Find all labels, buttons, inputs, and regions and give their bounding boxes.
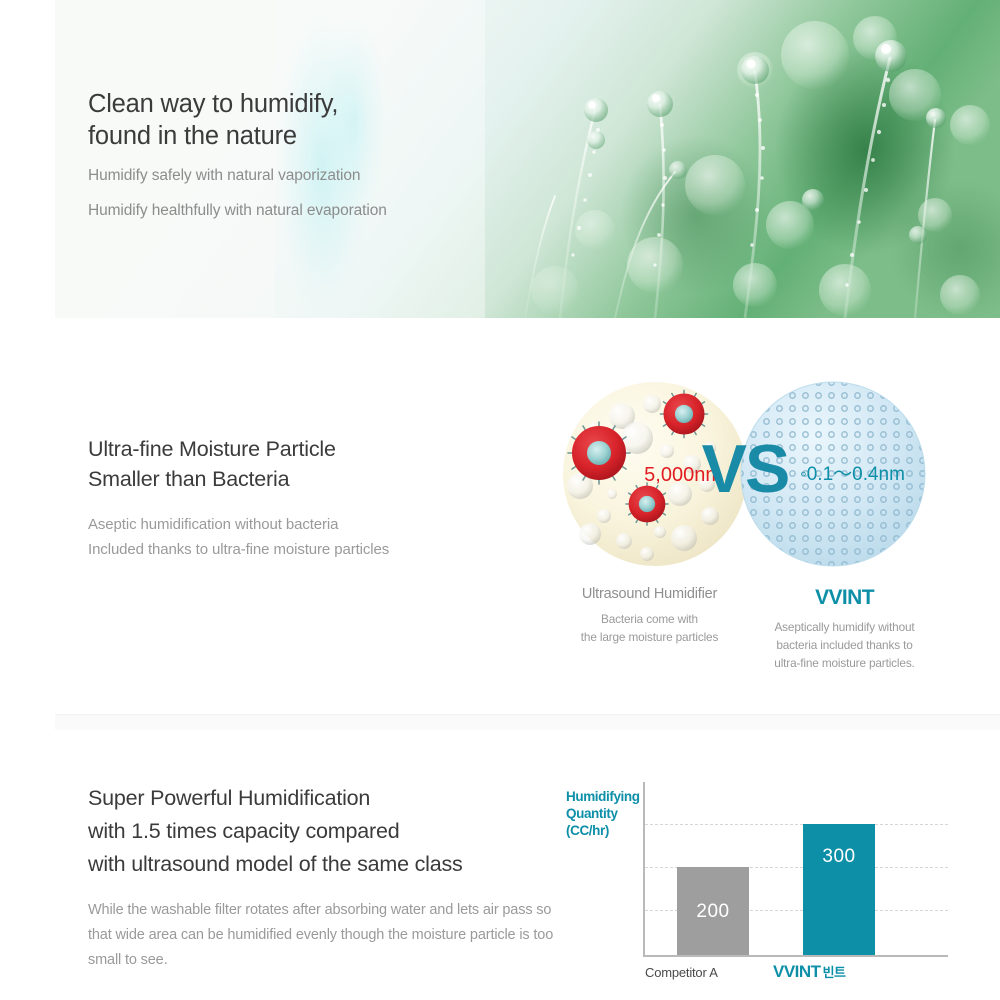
y-axis-label-line-1: Humidifying — [566, 788, 640, 805]
x-label-vvint: VVINT빈트 — [773, 962, 845, 982]
comparison-captions: Ultrasound Humidifier Bacteria come with… — [552, 586, 942, 672]
x-label-competitor-a: Competitor A — [645, 965, 718, 980]
vvint-logo: VVINT — [747, 586, 942, 610]
ultrasound-caption-line-2: the large moisture particles — [552, 628, 747, 646]
bar-value-vvint: 300 — [803, 846, 875, 868]
gridline-300 — [645, 824, 948, 825]
vvint-caption-line-2: bacteria included thanks to — [747, 636, 942, 654]
vs-comparison-graphic: 5,000nm ◦0.1～0.4nm VS — [552, 376, 942, 576]
y-axis-label-line-2: Quantity — [566, 805, 640, 822]
badge-01-04nm: ◦0.1～0.4nm — [800, 464, 905, 485]
hero-subtitle-line-1: Humidify safely with natural vaporizatio… — [88, 164, 387, 187]
bar-vvint: 300 — [803, 824, 875, 955]
section-divider — [55, 714, 1000, 730]
particle-body-line-2: Included thanks to ultra-fine moisture p… — [88, 537, 389, 562]
chart-plot-area: 200 300 — [643, 782, 948, 957]
hero-title-line-2: found in the nature — [88, 120, 387, 152]
ultrasound-caption-line-1: Bacteria come with — [552, 610, 747, 628]
chart-title-line-1: Super Powerful Humidification — [88, 782, 558, 815]
particle-body-line-1: Aseptic humidification without bacteria — [88, 512, 389, 537]
chart-body-text: While the washable filter rotates after … — [88, 898, 558, 973]
hero-subtitle-line-2: Humidify healthfully with natural evapor… — [88, 199, 387, 222]
ultrasound-caption: Ultrasound Humidifier Bacteria come with… — [552, 586, 747, 672]
hero-copy: Clean way to humidify, found in the natu… — [88, 88, 387, 222]
chart-title-line-2: with 1.5 times capacity compared — [88, 815, 558, 848]
product-feature-page: Clean way to humidify, found in the natu… — [0, 0, 1000, 1000]
vvint-caption-line-1: Aseptically humidify without — [747, 618, 942, 636]
hero-banner: Clean way to humidify, found in the natu… — [55, 0, 1000, 318]
x-label-vvint-brand: VVINT — [773, 962, 821, 981]
vvint-caption-line-3: ultra-fine moisture particles. — [747, 654, 942, 672]
humidification-chart-section: Super Powerful Humidification with 1.5 t… — [0, 730, 1000, 1000]
chart-x-axis-labels: Competitor A VVINT빈트 — [643, 962, 948, 988]
chart-copy: Super Powerful Humidification with 1.5 t… — [88, 782, 558, 973]
bar-competitor-a: 200 — [677, 867, 749, 955]
particle-comparison-section: Ultra-fine Moisture Particle Smaller tha… — [0, 318, 1000, 718]
particle-title-line-1: Ultra-fine Moisture Particle — [88, 434, 389, 464]
chart-title-line-3: with ultrasound model of the same class — [88, 848, 558, 881]
humidifying-quantity-bar-chart: Humidifying Quantity (CC/hr) 200 300 Com… — [558, 782, 948, 990]
ultrasound-caption-heading: Ultrasound Humidifier — [552, 586, 747, 602]
hero-title-line-1: Clean way to humidify, — [88, 88, 387, 120]
x-label-vvint-korean: 빈트 — [823, 965, 846, 980]
y-axis-label-line-3: (CC/hr) — [566, 822, 640, 839]
particle-copy: Ultra-fine Moisture Particle Smaller tha… — [88, 434, 389, 562]
vvint-caption: VVINT Aseptically humidify without bacte… — [747, 586, 942, 672]
particle-title-line-2: Smaller than Bacteria — [88, 464, 389, 494]
vs-label: VS — [702, 431, 789, 507]
y-axis-label: Humidifying Quantity (CC/hr) — [566, 788, 640, 839]
bar-value-competitor-a: 200 — [677, 901, 749, 923]
